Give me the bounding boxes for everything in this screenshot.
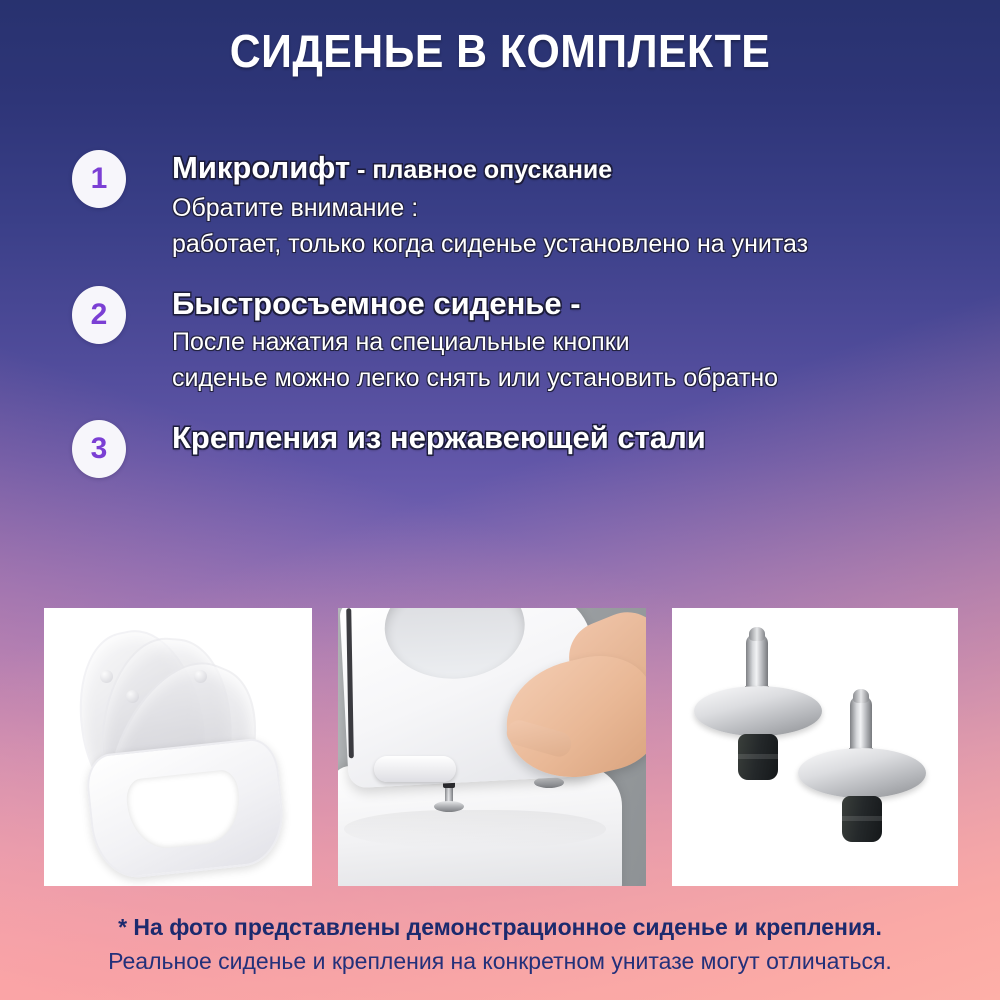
feature-heading-3: Крепления из нержавеющей стали: [172, 418, 706, 458]
feature-line-1-1: Обратите внимание :: [172, 190, 808, 226]
seat-motion-illustration: [44, 608, 312, 886]
feature-heading-rest-1: - плавное опускание: [350, 156, 612, 184]
page-title: СИДЕНЬЕ В КОМПЛЕКТЕ: [35, 24, 965, 78]
photo-hand-removing-quick-release-seat: [338, 608, 646, 886]
pin-disc: [434, 801, 464, 812]
feature-heading-strong-1: Микролифт: [172, 150, 350, 185]
feature-item-1: 1 Микролифт - плавное опускание Обратите…: [0, 148, 1000, 262]
fixing-chrome-cap: [798, 748, 926, 798]
footer-line-2: Реальное сиденье и крепления на конкретн…: [0, 944, 1000, 978]
feature-line-2-2: сиденье можно легко снять или установить…: [172, 360, 778, 396]
fixing-rubber-anchor: [842, 796, 882, 842]
feature-text-2: Быстросъемное сиденье - После нажатия на…: [172, 284, 778, 396]
footer-line-1: * На фото представлены демонстрационное …: [0, 910, 1000, 944]
feature-item-3: 3 Крепления из нержавеющей стали: [0, 418, 1000, 458]
feature-list: 1 Микролифт - плавное опускание Обратите…: [0, 148, 1000, 480]
seat-bumper-icon: [194, 670, 207, 683]
photo-stainless-steel-seat-fixings-pair: [672, 608, 958, 886]
photo-toilet-seat-soft-close-sequence: [44, 608, 312, 886]
seat-fixing-right: [798, 692, 926, 840]
feature-heading-1: Микролифт - плавное опускание: [172, 148, 808, 190]
feature-text-3: Крепления из нержавеющей стали: [172, 418, 706, 458]
feature-text-1: Микролифт - плавное опускание Обратите в…: [172, 148, 808, 262]
seat-bumper-icon: [100, 670, 113, 683]
feature-heading-2: Быстросъемное сиденье -: [172, 284, 778, 324]
feature-heading-strong-2: Быстросъемное сиденье -: [172, 286, 581, 321]
feature-number-badge-3: 3: [72, 420, 126, 478]
seat-ring: [84, 736, 288, 881]
feature-number-badge-1: 1: [72, 150, 126, 208]
feature-heading-strong-3: Крепления из нержавеющей стали: [172, 420, 706, 455]
photo-strip: [44, 608, 958, 886]
seat-hinge: [374, 756, 456, 782]
fixing-rubber-anchor: [738, 734, 778, 780]
feature-number-badge-2: 2: [72, 286, 126, 344]
footer-disclaimer: * На фото представлены демонстрационное …: [0, 910, 1000, 978]
pin-disc: [534, 777, 564, 788]
seat-bumper-icon: [126, 690, 139, 703]
promo-banner: СИДЕНЬЕ В КОМПЛЕКТЕ 1 Микролифт - плавно…: [0, 0, 1000, 1000]
feature-line-1-2: работает, только когда сиденье установле…: [172, 226, 808, 262]
feature-line-2-1: После нажатия на специальные кнопки: [172, 324, 778, 360]
feature-item-2: 2 Быстросъемное сиденье - После нажатия …: [0, 284, 1000, 396]
